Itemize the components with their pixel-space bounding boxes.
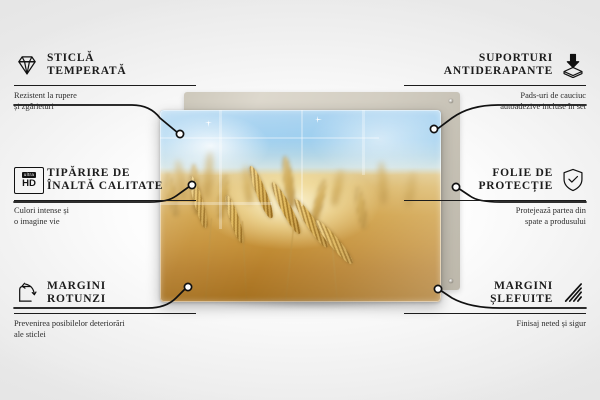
divider (14, 85, 196, 86)
divider (404, 313, 586, 314)
feature-rounded-edges: MARGINI ROTUNZI Prevenirea posibilelor d… (14, 276, 196, 340)
glass-edge (160, 110, 441, 302)
diamond-icon (14, 52, 40, 78)
divider (404, 85, 586, 86)
rounded-corner-icon (14, 280, 40, 306)
feature-protective-film: FOLIE DE PROTECȚIE Protejează partea din… (404, 163, 586, 227)
feature-title: MARGINI ROTUNZI (47, 280, 106, 307)
divider (14, 200, 196, 201)
shield-check-icon (560, 167, 586, 193)
download-pad-icon (560, 52, 586, 78)
feature-subtitle: Protejează partea din spate a produsului (404, 206, 586, 227)
glass-panel (160, 110, 441, 302)
feature-polished-edges: MARGINI ȘLEFUITE Finisaj neted și sigur (404, 276, 586, 330)
feature-title: MARGINI ȘLEFUITE (490, 280, 553, 307)
feature-subtitle: Culori intense și o imagine vie (14, 206, 196, 227)
divider (404, 200, 586, 201)
feature-title: TIPĂRIRE DE ÎNALTĂ CALITATE (47, 167, 163, 194)
feature-title: SUPORTURI ANTIDERAPANTE (444, 52, 553, 79)
divider (14, 313, 196, 314)
feature-title: STICLĂ TEMPERATĂ (47, 52, 126, 79)
feature-subtitle: Pads-uri de cauciuc autoadezive incluse … (404, 91, 586, 112)
feature-subtitle: Rezistent la rupere și zgârieturi (14, 91, 196, 112)
feature-high-quality-print: ultra HD TIPĂRIRE DE ÎNALTĂ CALITATE Cul… (14, 163, 196, 227)
hatch-triangle-icon (560, 280, 586, 306)
feature-subtitle: Finisaj neted și sigur (404, 319, 586, 330)
feature-subtitle: Prevenirea posibilelor deteriorări ale s… (14, 319, 196, 340)
ultra-hd-badge-icon: ultra HD (14, 167, 40, 193)
feature-anti-slip-supports: SUPORTURI ANTIDERAPANTE Pads-uri de cauc… (404, 48, 586, 112)
hd-badge-bottom: HD (22, 179, 36, 189)
feature-tempered-glass: STICLĂ TEMPERATĂ Rezistent la rupere și … (14, 48, 196, 112)
feature-title: FOLIE DE PROTECȚIE (479, 167, 554, 194)
infographic-canvas: STICLĂ TEMPERATĂ Rezistent la rupere și … (0, 0, 600, 400)
